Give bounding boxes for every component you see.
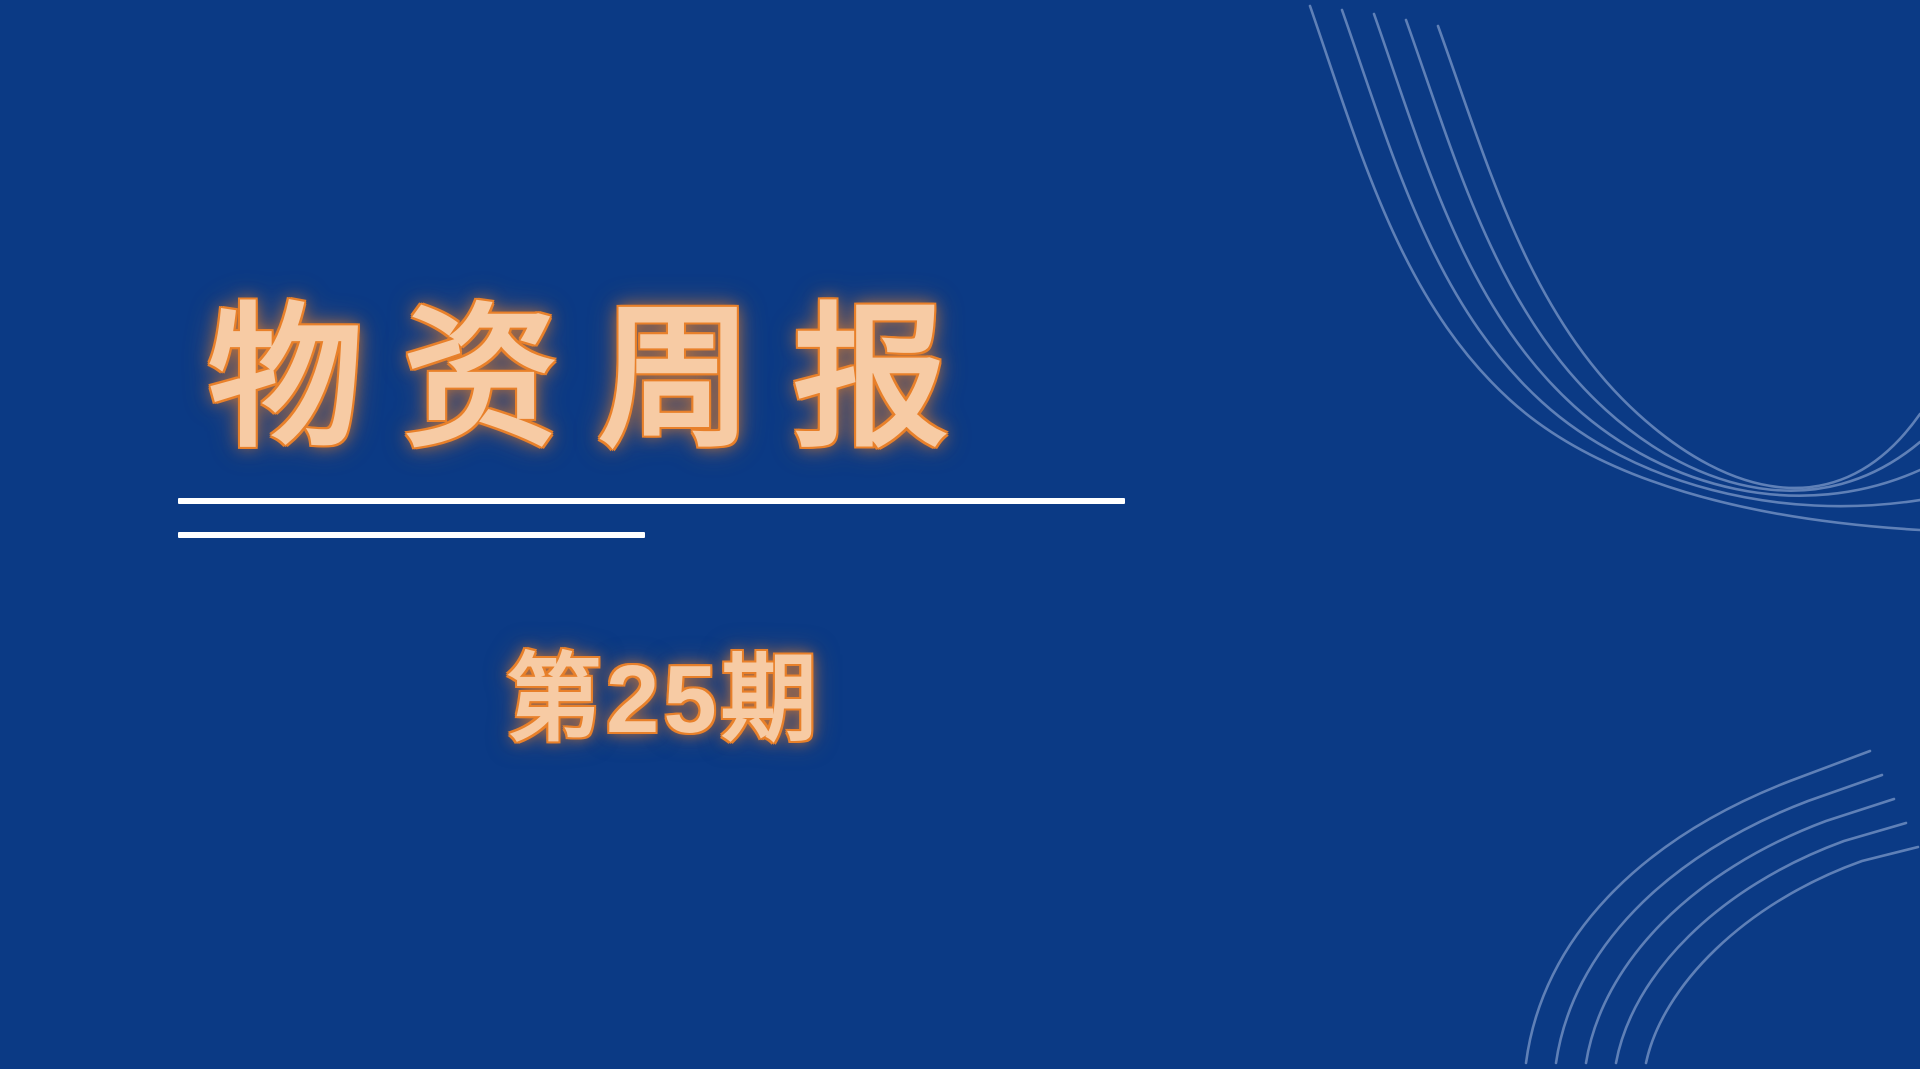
arc-lines-bottom-right-icon (1490, 729, 1920, 1069)
title-underline-long (178, 498, 1125, 504)
issue-number-label: 第25期 (506, 645, 821, 755)
page-title: 物资周报 (178, 286, 1178, 472)
decor-arc (1526, 751, 1870, 1063)
decor-curve (1342, 10, 1920, 506)
swoosh-lines-top-right-icon (1280, 0, 1920, 540)
decor-curve (1406, 20, 1920, 491)
decor-arc (1556, 775, 1882, 1063)
title-underline-short (178, 532, 645, 538)
decor-curve (1310, 6, 1920, 530)
title-block: 物资周报 (178, 286, 1178, 472)
decor-arc (1646, 847, 1918, 1063)
decor-arc (1586, 799, 1894, 1063)
decor-curve (1438, 26, 1920, 488)
title-slide: 物资周报 第25期 (0, 0, 1920, 1069)
decor-arc (1616, 823, 1906, 1063)
decor-curve (1374, 14, 1920, 496)
